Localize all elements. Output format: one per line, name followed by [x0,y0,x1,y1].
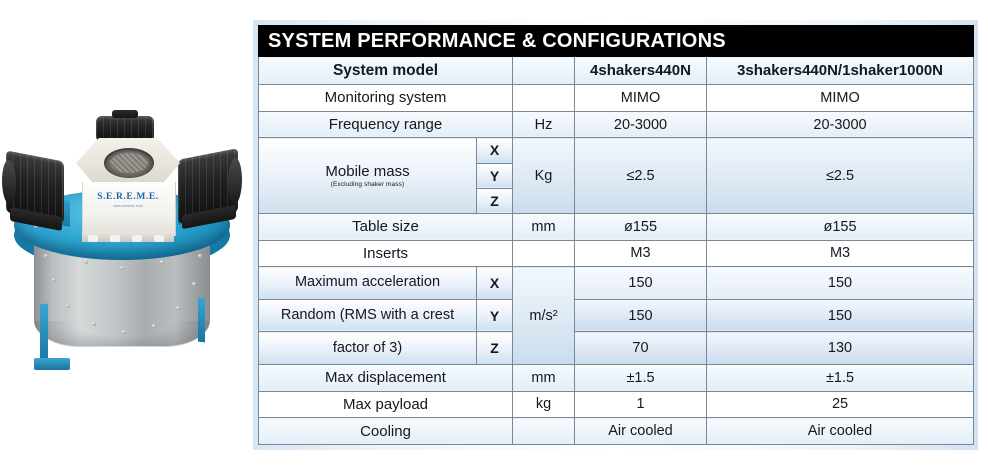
row-c1-monitoring-system: MIMO [575,85,707,112]
axis-z-mobile-mass: Z [477,188,513,213]
axis-z-max-acceleration: Z [477,332,513,365]
row-c1-table-size: ø155 [575,213,707,240]
table-row: Frequency range Hz 20-3000 20-3000 [259,111,974,138]
table-row: Random (RMS with a crest Y 150 150 [259,299,974,332]
mobile-mass-title: Mobile mass [325,163,409,180]
axis-y-max-acceleration: Y [477,299,513,332]
row-label-monitoring-system: Monitoring system [259,85,513,112]
row-c1-frequency-range: 20-3000 [575,111,707,138]
row-c1-cooling: Air cooled [575,418,707,445]
row-unit-inserts [513,240,575,267]
row-c2-monitoring-system: MIMO [707,85,974,112]
table-row: Max displacement mm ±1.5 ±1.5 [259,364,974,391]
row-c2-max-payload: 25 [707,391,974,418]
row-c1-mobile-mass: ≤2.5 [575,138,707,213]
row-unit-table-size: mm [513,213,575,240]
row-c1-max-acceleration-x: 150 [575,267,707,300]
header-unit [513,57,575,85]
row-unit-frequency-range: Hz [513,111,575,138]
head-front-panel [82,182,176,236]
table-row: Monitoring system MIMO MIMO [259,85,974,112]
table-row: Cooling Air cooled Air cooled [259,418,974,445]
row-c2-mobile-mass: ≤2.5 [707,138,974,213]
axis-y-mobile-mass: Y [477,163,513,188]
shaker-right-cap [228,157,242,206]
row-c2-cooling: Air cooled [707,418,974,445]
table-header-row: System model 4shakers440N 3shakers440N/1… [259,57,974,85]
row-c2-frequency-range: 20-3000 [707,111,974,138]
spec-table-frame: SYSTEM PERFORMANCE & CONFIGURATIONS Syst… [253,20,978,450]
row-label-frequency-range: Frequency range [259,111,513,138]
row-label-cooling: Cooling [259,418,513,445]
table-row: factor of 3) Z 70 130 [259,332,974,365]
header-config-2: 3shakers440N/1shaker1000N [707,57,974,85]
table-row: Mobile mass (Excluding shaker mass) X Kg… [259,138,974,163]
table-row: Table size mm ø155 ø155 [259,213,974,240]
row-c1-max-acceleration-y: 150 [575,299,707,332]
row-c2-max-acceleration-x: 150 [707,267,974,300]
row-unit-max-acceleration: m/s² [513,267,575,365]
row-unit-mobile-mass: Kg [513,138,575,213]
product-photo: S.E.R.E.M.E. www.sereme.com [0,0,250,466]
row-c2-inserts: M3 [707,240,974,267]
table-title-row: SYSTEM PERFORMANCE & CONFIGURATIONS [259,26,974,57]
header-config-1: 4shakers440N [575,57,707,85]
foot-plate-left [34,358,70,370]
row-c1-inserts: M3 [575,240,707,267]
row-unit-max-displacement: mm [513,364,575,391]
axis-x-max-acceleration: X [477,267,513,300]
header-system-model: System model [259,57,513,85]
row-label-max-acceleration-line-1: Maximum acceleration [259,267,477,300]
row-unit-cooling [513,418,575,445]
mobile-mass-sublabel: (Excluding shaker mass) [259,181,476,188]
support-leg-left [40,303,48,364]
row-label-max-acceleration-line-2: Random (RMS with a crest [259,299,477,332]
table-row: Inserts M3 M3 [259,240,974,267]
table-row: Maximum acceleration X m/s² 150 150 [259,267,974,300]
shaker-table-illustration: S.E.R.E.M.E. www.sereme.com [0,108,250,408]
row-unit-max-payload: kg [513,391,575,418]
row-c2-max-displacement: ±1.5 [707,364,974,391]
table-row: Max payload kg 1 25 [259,391,974,418]
row-label-mobile-mass: Mobile mass (Excluding shaker mass) [259,138,477,213]
row-label-max-payload: Max payload [259,391,513,418]
system-spec-table: SYSTEM PERFORMANCE & CONFIGURATIONS Syst… [258,25,974,445]
table-title: SYSTEM PERFORMANCE & CONFIGURATIONS [259,26,974,57]
row-label-max-displacement: Max displacement [259,364,513,391]
brand-url: www.sereme.com [82,204,174,208]
row-label-max-acceleration-line-3: factor of 3) [259,332,477,365]
row-label-table-size: Table size [259,213,513,240]
shaker-rear-mount [112,110,138,118]
center-bore-texture [110,153,148,173]
row-c2-table-size: ø155 [707,213,974,240]
support-leg-right [198,298,205,343]
row-c2-max-acceleration-y: 150 [707,299,974,332]
row-c1-max-payload: 1 [575,391,707,418]
brand-logo: S.E.R.E.M.E. [82,192,174,202]
axis-x-mobile-mass: X [477,138,513,163]
row-c1-max-displacement: ±1.5 [575,364,707,391]
row-c2-max-acceleration-z: 130 [707,332,974,365]
row-label-inserts: Inserts [259,240,513,267]
row-c1-max-acceleration-z: 70 [575,332,707,365]
row-unit-monitoring-system [513,85,575,112]
